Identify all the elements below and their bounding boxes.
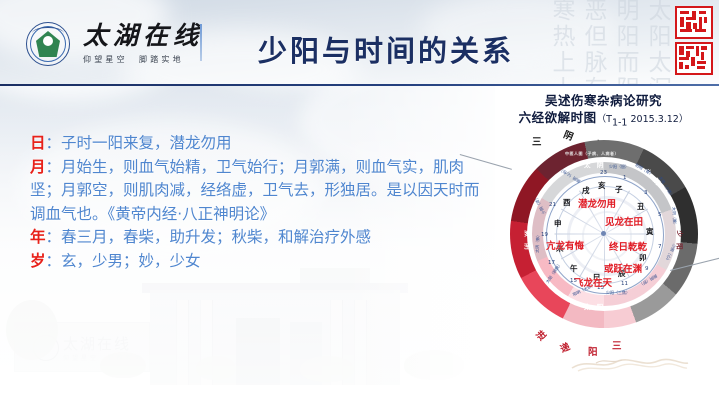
dragon-stage-kanglong: 亢龙有悔 — [546, 238, 584, 252]
dragon-stage-jianlong: 见龙在田 — [605, 214, 643, 228]
ring-band-taiyang: 太 阳 — [584, 301, 605, 311]
red-seal-stamp-lower — [675, 42, 713, 75]
dragon-stage-qianlong: 潜龙勿用 — [578, 196, 616, 210]
ring-band-taiyin: 太 阴 — [584, 159, 605, 169]
line-label-nian: 年 — [30, 228, 46, 246]
line-body-sui: 玄，少男；妙，少女 — [61, 252, 201, 270]
body-text-block: 日：子时一阳来复，潜龙勿用 月：月始生，则血气始精，卫气始行；月郭满，则血气实，… — [30, 132, 480, 273]
dragon-stage-feilong: 飞龙在天 — [574, 275, 612, 289]
branch-shen: 申 — [554, 218, 562, 229]
line-sep: ： — [46, 158, 62, 176]
line-sep: ： — [46, 252, 62, 270]
branch-zi: 子 — [615, 184, 623, 195]
ring-band-shaoyang: 少 阳 — [676, 230, 686, 251]
line-label-sui: 岁 — [30, 252, 46, 270]
line-sep: ： — [46, 134, 62, 152]
inner-note-3: 太阴（脾） — [671, 207, 678, 227]
wheel-hub — [601, 231, 606, 236]
cloud-flourish-decoration — [570, 352, 690, 374]
watermark-column: 明阳而阴细阴有则言 — [608, 0, 638, 86]
line-label-ri: 日 — [30, 134, 46, 152]
branch-yin: 寅 — [646, 226, 654, 237]
hour-mark-21: 21 — [549, 202, 556, 208]
hour-mark-7: 7 — [658, 244, 662, 250]
text-line-yue: 月：月始生，则血气始精，卫气始行；月郭满，则血气实，肌肉坚；月郭空，则肌肉减，经… — [30, 156, 480, 227]
branch-wu: 午 — [570, 263, 578, 274]
line-sep: ： — [46, 228, 62, 246]
liujing-time-diagram: 吴述伤寒杂病论研究 六经欲解时图（T1-1 2015.3.12） 三 阴 递 进… — [488, 92, 719, 382]
watermark-column: 寒热上上，上结解自 — [544, 0, 574, 86]
dragon-stage-zhongri: 终日乾乾 — [609, 239, 647, 253]
hour-mark-5: 5 — [658, 212, 662, 218]
line-body-nian: 春三月，春柴，助升发；秋柴，和解治疗外感 — [61, 228, 371, 246]
brand-name-block: 太湖在线 仰望星空 脚踏实地 — [83, 23, 203, 64]
inner-note-6: 少阳（三焦） — [606, 290, 630, 296]
diagram-note-post: 2015.3.12） — [627, 114, 688, 125]
dragon-stage-huoyue: 或跃在渊 — [604, 261, 642, 275]
brand-name: 太湖在线 — [83, 23, 203, 49]
university-emblem-icon — [26, 22, 70, 66]
branch-xu: 戌 — [582, 185, 590, 196]
slide-canvas: 太湖在线 仰望星空 脚踏实地 太阳太沉太微若白厥 明阳而阴细阴有则言 恶但脉有浮… — [0, 0, 719, 405]
six-meridian-wheel: 太 阴 少 阴 厥 阴 少 阳 太 阳 中医人图（子病、人病者） 23 1 3 … — [510, 140, 698, 328]
brand-logo: 太湖在线 仰望星空 脚踏实地 — [26, 22, 203, 66]
inner-note-0: 少阳（胆） — [609, 164, 629, 170]
diagram-note-sub: 1-1 — [612, 118, 628, 129]
hour-mark-17: 17 — [548, 260, 555, 266]
seal-stamp-group — [675, 6, 713, 78]
header-divider — [200, 24, 202, 61]
hour-mark-9: 9 — [645, 266, 649, 272]
branch-chou: 丑 — [637, 201, 645, 212]
diagram-caption-line2: 六经欲解时图 — [519, 110, 597, 125]
hour-mark-23: 23 — [600, 170, 607, 176]
line-label-yue: 月 — [30, 158, 46, 176]
page-title: 少阳与时间的关系 — [258, 28, 514, 70]
header-bottom-rule — [0, 84, 719, 86]
text-line-sui: 岁：玄，少男；妙，少女 — [30, 250, 480, 274]
arc-bottom-char-0: 三 — [612, 338, 622, 352]
diagram-caption-line2-wrap: 六经欲解时图（T1-1 2015.3.12） — [488, 109, 719, 132]
diagram-caption: 吴述伤寒杂病论研究 六经欲解时图（T1-1 2015.3.12） — [488, 92, 719, 132]
hour-mark-11: 11 — [621, 281, 628, 287]
diagram-note-pre: （T — [597, 114, 612, 125]
brand-tagline: 仰望星空 脚踏实地 — [83, 54, 203, 65]
ring-band-jueyin: 厥 阴 — [524, 230, 534, 251]
line-body-yue: 月始生，则血气始精，卫气始行；月郭满，则血气实，肌肉坚；月郭空，则肌肉减，经络虚… — [30, 158, 480, 223]
hour-mark-3: 3 — [644, 190, 648, 196]
watermark-column: 太阳太沉太微若白厥 — [640, 0, 670, 86]
branch-you: 酉 — [563, 197, 571, 208]
ring-band-header: 中医人图（子病、人病者） — [565, 151, 619, 157]
line-body-ri: 子时一阳来复，潜龙勿用 — [61, 134, 232, 152]
inner-note-9: 太阴（肺） — [535, 233, 542, 253]
text-line-nian: 年：春三月，春柴，助升发；秋柴，和解治疗外感 — [30, 226, 480, 250]
wheel-spoke — [554, 234, 604, 235]
diagram-caption-line1: 吴述伤寒杂病论研究 — [488, 92, 719, 109]
arc-bottom-char-3: 进 — [532, 327, 549, 344]
hour-mark-1: 1 — [623, 175, 627, 181]
text-line-ri: 日：子时一阳来复，潜龙勿用 — [30, 132, 480, 156]
red-seal-stamp-upper — [675, 6, 713, 39]
slide-header: 太阳太沉太微若白厥 明阳而阴细阴有则言 恶但脉有浮欲手，之 寒热上上，上结解自 … — [0, 0, 719, 86]
branch-hai: 亥 — [598, 180, 606, 191]
watermark-column: 恶但脉有浮欲手，之 — [576, 0, 606, 86]
